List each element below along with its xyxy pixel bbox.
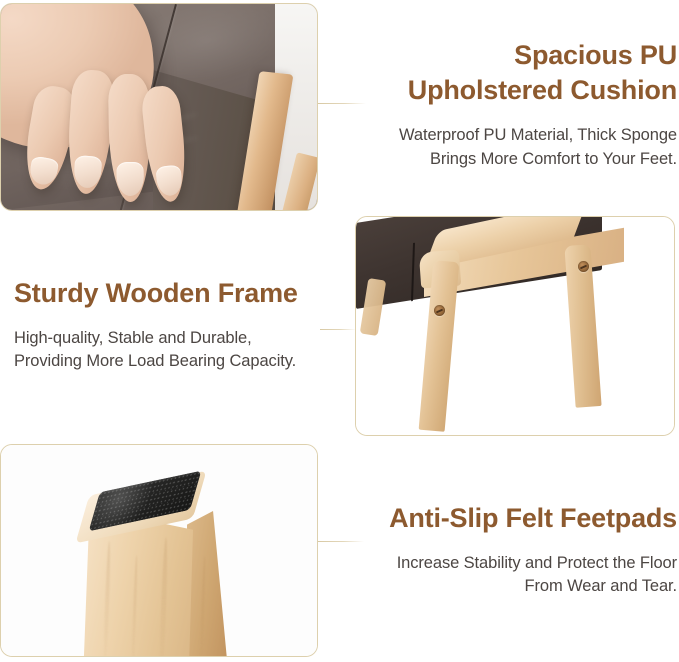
heading-line: Anti-Slip Felt Feetpads	[352, 501, 677, 536]
body-line: Providing More Load Bearing Capacity.	[14, 350, 344, 373]
feature-text-frame: Sturdy Wooden Frame High-quality, Stable…	[14, 276, 344, 373]
feature-image-panel-cushion	[0, 3, 318, 211]
feature-heading-cushion: Spacious PU Upholstered Cushion	[355, 38, 677, 107]
frame-photo	[356, 217, 674, 435]
body-line: Brings More Comfort to Your Feet.	[355, 148, 677, 171]
heading-line: Spacious PU	[355, 38, 677, 73]
connector-line-frame	[320, 329, 356, 330]
screw-icon	[578, 261, 589, 272]
feature-image-panel-feetpads	[0, 444, 318, 657]
feetpad-photo	[1, 445, 317, 656]
body-line: Waterproof PU Material, Thick Sponge	[355, 124, 677, 147]
body-line: Increase Stability and Protect the Floor	[352, 552, 677, 575]
body-line: From Wear and Tear.	[352, 575, 677, 598]
fingernail	[117, 162, 145, 196]
heading-line: Sturdy Wooden Frame	[14, 276, 344, 311]
body-line: High-quality, Stable and Durable,	[14, 327, 344, 350]
feature-body-frame: High-quality, Stable and Durable, Provid…	[14, 327, 344, 374]
heading-line: Upholstered Cushion	[355, 73, 677, 108]
feature-body-cushion: Waterproof PU Material, Thick Sponge Bri…	[355, 124, 677, 171]
fingernail	[155, 165, 183, 198]
feature-image-panel-frame	[355, 216, 675, 436]
feature-heading-feetpads: Anti-Slip Felt Feetpads	[352, 501, 677, 536]
feature-body-feetpads: Increase Stability and Protect the Floor…	[352, 552, 677, 599]
feature-text-feetpads: Anti-Slip Felt Feetpads Increase Stabili…	[352, 501, 677, 598]
feature-heading-frame: Sturdy Wooden Frame	[14, 276, 344, 311]
screw-icon	[434, 305, 445, 316]
feature-text-cushion: Spacious PU Upholstered Cushion Waterpro…	[355, 38, 677, 171]
infographic-canvas: Spacious PU Upholstered Cushion Waterpro…	[0, 0, 679, 662]
cushion-photo	[1, 4, 317, 210]
